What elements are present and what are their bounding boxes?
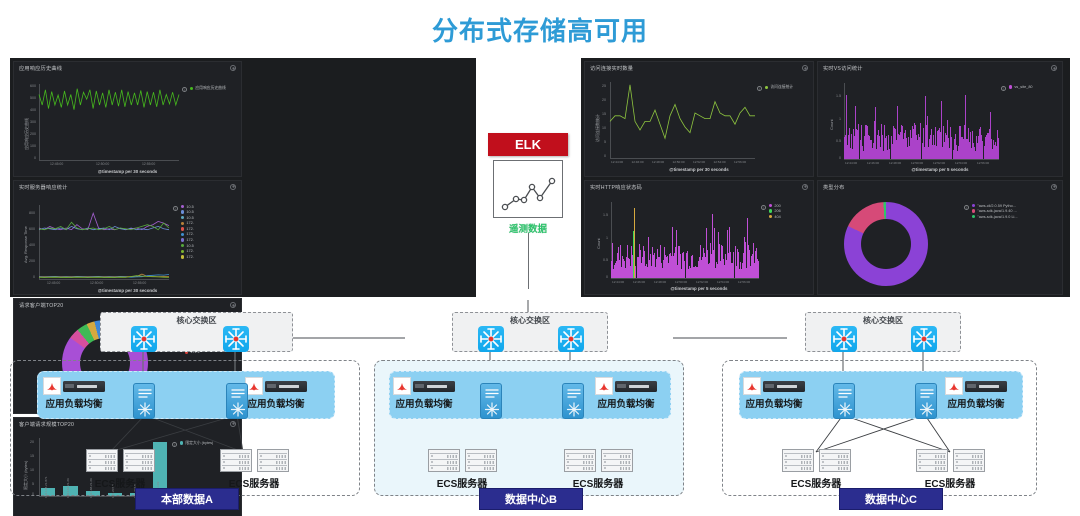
y-tick: 0 xyxy=(604,154,606,158)
y-tick: 1.5 xyxy=(603,213,608,217)
server-row xyxy=(215,449,293,472)
x-tick: 12:48:00 xyxy=(652,160,664,164)
legend-color-swatch xyxy=(181,250,184,253)
gear-icon[interactable] xyxy=(802,65,808,71)
load-balancer-label: 应用负载均衡 xyxy=(945,396,1007,410)
load-balancer-left[interactable]: 应用负载均衡 xyxy=(743,377,805,410)
legend-label: 172. xyxy=(186,238,193,242)
x-tick: 12:45:00 xyxy=(47,281,60,285)
line-series-app-response xyxy=(39,84,179,160)
legend-label: 10.5 xyxy=(186,205,193,209)
network-switch-icon[interactable] xyxy=(558,326,584,352)
datacenter-name-badge: 数据中心B xyxy=(479,488,583,510)
histogram-bar[interactable] xyxy=(998,138,999,159)
network-switch-icon[interactable] xyxy=(223,326,249,352)
x-tick: 12:50:00 xyxy=(96,162,109,166)
network-switch-icon[interactable] xyxy=(478,326,504,352)
elk-chart-box xyxy=(493,160,563,218)
legend-color-swatch xyxy=(765,86,768,89)
legend-label: 172. xyxy=(186,227,193,231)
datacenter-b: 应用负载均衡 应用负载均衡 xyxy=(374,360,684,496)
core-switch-zone-b: 核心交换区 xyxy=(452,312,608,352)
legend-item[interactable]: 访问连接统计 xyxy=(765,85,793,90)
core-zone-title: 核心交换区 xyxy=(101,315,292,326)
x-axis-line xyxy=(610,158,755,159)
legend-label: 10.5 xyxy=(186,210,193,214)
legend-label: "aws-sdk-java/1.9.40 ... xyxy=(977,209,1016,213)
elk-connector-line xyxy=(528,233,530,289)
server-row xyxy=(777,449,855,472)
y-tick: 1 xyxy=(839,117,841,121)
f5-load-balancer-icon xyxy=(393,377,411,395)
y-tick: 25 xyxy=(602,84,606,88)
y-tick: 5 xyxy=(604,140,606,144)
legend[interactable]: 10.510.510.5172.172.172.172.10.5172.172. xyxy=(181,205,194,261)
appliance-icon xyxy=(413,381,455,392)
ecs-server-group-left[interactable]: ECS服务器 xyxy=(777,449,855,490)
legend-color-swatch xyxy=(181,222,184,225)
legend-color-swatch xyxy=(181,205,184,208)
x-tick: 12:48:00 xyxy=(654,280,666,284)
network-switch-icon[interactable] xyxy=(831,326,857,352)
info-icon[interactable]: i xyxy=(173,206,178,211)
panel-realtime-server-response[interactable]: 实时服务器响应统计 Avg. Response Time 800 600 400… xyxy=(13,180,242,296)
legend-color-swatch xyxy=(769,204,772,207)
x-tick: 12:45:00 xyxy=(50,162,63,166)
gear-icon[interactable] xyxy=(802,184,808,190)
x-axis-label: @timestamp per 30 seconds xyxy=(14,288,241,293)
x-tick: 12:56:00 xyxy=(738,280,750,284)
line-series-connections xyxy=(610,82,755,158)
legend-color-swatch xyxy=(181,227,184,230)
panel-active-connections[interactable]: 访问连接实时数量 访问连接数统计 25 20 15 10 5 0 12:44:0… xyxy=(584,61,814,177)
y-tick: 1.5 xyxy=(836,94,841,98)
page-title: 分布式存储高可用 xyxy=(0,11,1080,48)
y-tick: 200 xyxy=(30,132,36,136)
gear-icon[interactable] xyxy=(230,65,236,71)
y-axis-label: 访问连接数统计 xyxy=(595,114,601,142)
legend-label: 访问连接统计 xyxy=(770,85,793,90)
legend-color-swatch xyxy=(190,87,193,90)
panel-title: 类型分布 xyxy=(823,184,845,191)
legend[interactable]: 应用响应历史曲线 xyxy=(190,86,226,93)
dashboard-right: 访问连接实时数量 访问连接数统计 25 20 15 10 5 0 12:44:0… xyxy=(581,58,1070,297)
datacenter-name-badge: 数据中心C xyxy=(839,488,943,510)
ecs-server-group-right[interactable]: ECS服务器 xyxy=(911,449,989,490)
legend-label: "aws-sdk-java/1.9.0 Li... xyxy=(977,215,1017,219)
load-balancer-label: 应用负载均衡 xyxy=(743,396,805,410)
rack-switch-icon[interactable] xyxy=(133,383,155,419)
x-tick: 12:52:00 xyxy=(933,161,945,165)
y-tick: 0 xyxy=(839,156,841,160)
legend-item[interactable]: 172. xyxy=(181,249,194,253)
datacenter-c: 应用负载均衡 应用负载均衡 xyxy=(722,360,1037,496)
server-row xyxy=(559,449,637,472)
y-tick: 20 xyxy=(602,98,606,102)
ecs-server-group-right[interactable]: ECS服务器 xyxy=(215,449,293,490)
info-icon[interactable]: i xyxy=(964,205,969,210)
legend-label: 172. xyxy=(186,232,193,236)
info-icon[interactable]: i xyxy=(182,87,187,92)
legend-label: 200 xyxy=(774,204,780,208)
server-icon xyxy=(819,449,851,472)
legend-item[interactable]: 172. xyxy=(181,227,194,231)
x-axis-line xyxy=(39,279,169,280)
x-tick: 12:54:00 xyxy=(714,160,726,164)
x-tick: 12:44:00 xyxy=(612,280,624,284)
legend[interactable]: "aws-cli/2.0.59 Pytho..."aws-sdk-java/1.… xyxy=(972,204,1018,221)
dashboard-left: 应用响应历史曲线 应用响应历史曲线 600 500 400 300 200 10… xyxy=(10,58,476,297)
legend-item[interactable]: vs_site_80 xyxy=(1009,85,1033,89)
legend-item[interactable]: 200 xyxy=(769,204,781,208)
y-tick: 100 xyxy=(30,144,36,148)
gear-icon[interactable] xyxy=(1051,65,1057,71)
server-icon xyxy=(465,449,497,472)
load-balancer-label: 应用负载均衡 xyxy=(43,396,105,410)
y-tick: 400 xyxy=(29,243,35,247)
y-tick: 400 xyxy=(30,108,36,112)
legend-label: 172. xyxy=(186,255,193,259)
x-tick: 12:46:00 xyxy=(867,161,879,165)
legend-label: vs_site_80 xyxy=(1014,85,1032,89)
load-balancer-label: 应用负载均衡 xyxy=(245,396,307,410)
panel-title: 实时VS访问统计 xyxy=(823,65,863,72)
legend-color-swatch xyxy=(181,216,184,219)
legend-color-swatch xyxy=(972,209,975,212)
x-tick: 12:50:00 xyxy=(673,160,685,164)
y-tick: 0.5 xyxy=(836,139,841,143)
y-axis-label: Count xyxy=(596,238,601,249)
x-tick: 12:52:00 xyxy=(693,160,705,164)
server-icon xyxy=(564,449,596,472)
rack-switch-icon[interactable] xyxy=(480,383,502,419)
legend-color-swatch xyxy=(181,255,184,258)
network-switch-icon[interactable] xyxy=(131,326,157,352)
f5-load-balancer-icon xyxy=(43,377,61,395)
x-axis-line xyxy=(39,160,179,161)
legend-item[interactable]: 10.5 xyxy=(181,216,194,220)
legend-color-swatch xyxy=(972,215,975,218)
x-axis-label: @timestamp per 5 seconds xyxy=(585,286,813,291)
line-series-response-time xyxy=(39,205,169,279)
histogram-series-vs-site xyxy=(844,83,999,159)
legend[interactable]: 访问连接统计 xyxy=(765,85,793,92)
legend-item[interactable]: 172. xyxy=(181,255,194,259)
legend-color-swatch xyxy=(769,209,772,212)
rack-switch-icon[interactable] xyxy=(833,383,855,419)
panel-type-distribution[interactable]: 类型分布 i "aws-cli/2.0.59 Pytho..."aws-sdk-… xyxy=(817,180,1063,296)
appliance-icon xyxy=(63,381,105,392)
legend-label: 应用响应历史曲线 xyxy=(195,86,225,91)
server-icon xyxy=(257,449,289,472)
x-axis-label: @timestamp per 30 seconds xyxy=(585,167,813,172)
elk-telemetry-group: ELK 遥测数据 xyxy=(481,133,575,255)
x-axis-label: @timestamp per 30 seconds xyxy=(14,169,241,174)
load-balancer-left[interactable]: 应用负载均衡 xyxy=(43,377,105,410)
y-tick: 1 xyxy=(606,236,608,240)
load-balancer-label: 应用负载均衡 xyxy=(595,396,657,410)
legend-label: "aws-cli/2.0.59 Pytho... xyxy=(977,204,1016,208)
panel-realtime-vs-access[interactable]: 实时VS访问统计 Count 1.5 1 0.5 0 12:44:0012:46… xyxy=(817,61,1063,177)
y-tick: 500 xyxy=(30,96,36,100)
appliance-icon xyxy=(763,381,805,392)
server-icon xyxy=(123,449,155,472)
x-tick: 12:44:00 xyxy=(611,160,623,164)
donut-hole xyxy=(861,219,911,269)
ecs-server-group-left[interactable]: ECS服务器 xyxy=(81,449,159,490)
legend-label: 172. xyxy=(186,249,193,253)
server-icon xyxy=(220,449,252,472)
legend-item[interactable]: 172. xyxy=(181,232,194,236)
legend-item[interactable]: "aws-cli/2.0.59 Pytho... xyxy=(972,204,1018,208)
legend-label: 172. xyxy=(186,221,193,225)
gear-icon[interactable] xyxy=(1051,184,1057,190)
histogram-bar[interactable] xyxy=(758,261,759,277)
x-tick: 12:56:00 xyxy=(977,161,989,165)
legend-item[interactable]: "aws-sdk-java/1.9.40 ... xyxy=(972,209,1018,213)
server-icon xyxy=(916,449,948,472)
info-icon[interactable]: i xyxy=(757,86,762,91)
panel-app-response-history[interactable]: 应用响应历史曲线 应用响应历史曲线 600 500 400 300 200 10… xyxy=(13,61,242,177)
panel-title: 访问连接实时数量 xyxy=(590,65,633,72)
network-switch-icon[interactable] xyxy=(911,326,937,352)
legend-item[interactable]: 404 xyxy=(769,215,781,219)
y-tick: 10 xyxy=(602,126,606,130)
server-icon xyxy=(86,449,118,472)
y-tick: 15 xyxy=(602,112,606,116)
load-balancer-left[interactable]: 应用负载均衡 xyxy=(393,377,455,410)
legend-label: 10.5 xyxy=(186,216,193,220)
x-axis-label: @timestamp per 5 seconds xyxy=(818,167,1062,172)
panel-title: 实时HTTP响应状态码 xyxy=(590,184,642,191)
f5-load-balancer-icon xyxy=(595,377,613,395)
rack-switch-icon[interactable] xyxy=(562,383,584,419)
legend-label: 10.5 xyxy=(186,244,193,248)
histogram-series-http-codes xyxy=(611,202,759,278)
load-balancer-right[interactable]: 应用负载均衡 xyxy=(595,377,657,410)
y-tick: 0 xyxy=(34,156,36,160)
appliance-icon xyxy=(965,381,1007,392)
load-balancer-right[interactable]: 应用负载均衡 xyxy=(245,377,307,410)
y-tick: 0.5 xyxy=(603,258,608,262)
core-switch-zone-c: 核心交换区 xyxy=(805,312,961,352)
appliance-icon xyxy=(265,381,307,392)
legend[interactable]: 200206404 xyxy=(769,204,781,221)
load-balancer-right[interactable]: 应用负载均衡 xyxy=(945,377,1007,410)
core-zone-title: 核心交换区 xyxy=(453,315,607,326)
rack-switch-icon[interactable] xyxy=(915,383,937,419)
info-icon[interactable]: i xyxy=(761,205,766,210)
x-tick: 12:54:00 xyxy=(717,280,729,284)
legend-color-swatch xyxy=(181,233,184,236)
x-tick: 12:56:00 xyxy=(734,160,746,164)
legend-item[interactable]: 应用响应历史曲线 xyxy=(190,86,226,91)
ecs-server-group-left[interactable]: ECS服务器 xyxy=(423,449,501,490)
legend-color-swatch xyxy=(181,210,184,213)
y-tick: 300 xyxy=(30,120,36,124)
x-axis-line xyxy=(844,159,999,160)
y-axis-label: Count xyxy=(829,119,834,130)
legend-color-swatch xyxy=(181,244,184,247)
legend-label: 404 xyxy=(774,215,780,219)
y-tick: 200 xyxy=(29,259,35,263)
server-icon xyxy=(782,449,814,472)
y-tick: 600 xyxy=(29,227,35,231)
f5-load-balancer-icon xyxy=(945,377,963,395)
network-topology: 核心交换区 核心交换区 xyxy=(0,300,1080,516)
legend-color-swatch xyxy=(769,215,772,218)
legend-item[interactable]: 206 xyxy=(769,209,781,213)
legend-item[interactable]: 172. xyxy=(181,238,194,242)
panel-http-status-codes[interactable]: 实时HTTP响应状态码 Count 1.5 1 0.5 0 12:44:0012… xyxy=(584,180,814,296)
y-tick: 800 xyxy=(29,211,35,215)
panel-title: 实时服务器响应统计 xyxy=(19,184,68,191)
elk-header-badge[interactable]: ELK xyxy=(488,133,568,156)
rack-switch-icon[interactable] xyxy=(226,383,248,419)
server-icon xyxy=(601,449,633,472)
x-axis-line xyxy=(611,278,759,279)
x-tick: 12:55:00 xyxy=(133,281,146,285)
core-switch-zone-a: 核心交换区 xyxy=(100,312,293,352)
f5-load-balancer-icon xyxy=(743,377,761,395)
datacenter-name-badge: 本部数据A xyxy=(135,488,239,510)
load-balancer-label: 应用负载均衡 xyxy=(393,396,455,410)
datacenter-a: 应用负载均衡 应用负载均衡 xyxy=(10,360,360,496)
server-icon xyxy=(428,449,460,472)
legend-label: 206 xyxy=(774,209,780,213)
legend-item[interactable]: 10.5 xyxy=(181,210,194,214)
server-row xyxy=(911,449,989,472)
server-row xyxy=(423,449,501,472)
y-tick: 0 xyxy=(606,275,608,279)
legend-item[interactable]: 172. xyxy=(181,221,194,225)
info-icon[interactable]: i xyxy=(1001,86,1006,91)
x-tick: 12:48:00 xyxy=(889,161,901,165)
legend-item[interactable]: "aws-sdk-java/1.9.0 Li... xyxy=(972,215,1018,219)
legend-color-swatch xyxy=(181,238,184,241)
legend-color-swatch xyxy=(972,204,975,207)
x-tick: 12:50:00 xyxy=(675,280,687,284)
y-tick: 0 xyxy=(33,275,35,279)
gear-icon[interactable] xyxy=(230,184,236,190)
x-tick: 12:54:00 xyxy=(955,161,967,165)
y-axis-label: Avg. Response Time xyxy=(23,226,28,263)
x-tick: 12:50:00 xyxy=(911,161,923,165)
line-chart-icon xyxy=(494,161,564,219)
x-tick: 12:46:00 xyxy=(633,280,645,284)
x-tick: 12:55:00 xyxy=(142,162,155,166)
legend[interactable]: vs_site_80 xyxy=(1009,85,1033,91)
ecs-server-group-right[interactable]: ECS服务器 xyxy=(559,449,637,490)
x-tick: 12:46:00 xyxy=(632,160,644,164)
server-icon xyxy=(953,449,985,472)
appliance-icon xyxy=(615,381,657,392)
legend-item[interactable]: 10.5 xyxy=(181,205,194,209)
panel-title: 应用响应历史曲线 xyxy=(19,65,62,72)
core-zone-title: 核心交换区 xyxy=(806,315,960,326)
legend-item[interactable]: 10.5 xyxy=(181,244,194,248)
x-tick: 12:44:00 xyxy=(845,161,857,165)
x-tick: 12:50:00 xyxy=(90,281,103,285)
server-row xyxy=(81,449,159,472)
x-tick: 12:52:00 xyxy=(696,280,708,284)
legend-color-swatch xyxy=(1009,85,1012,88)
y-tick: 600 xyxy=(30,84,36,88)
